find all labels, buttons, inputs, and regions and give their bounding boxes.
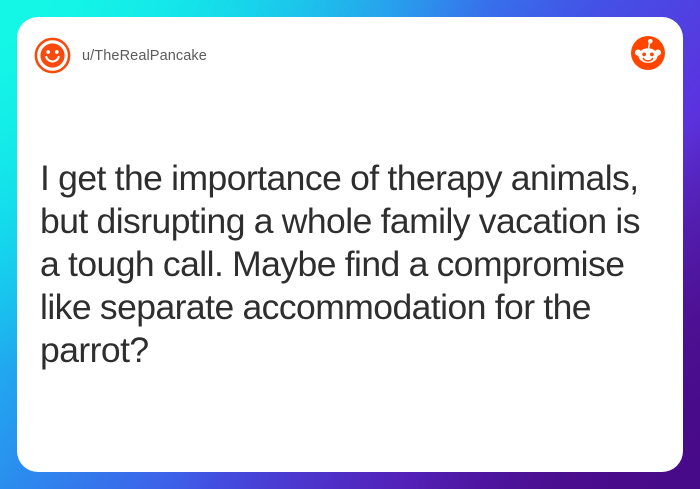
post-body-text: I get the importance of therapy animals,… [40,157,652,372]
username-label: u/TheRealPancake [82,46,207,66]
reddit-snoo-logo-icon [630,35,666,71]
post-header: u/TheRealPancake [17,17,683,95]
avatar[interactable] [34,37,71,74]
reddit-post-card: u/TheRealPancake [17,17,683,472]
screenshot-canvas: u/TheRealPancake [0,0,700,489]
